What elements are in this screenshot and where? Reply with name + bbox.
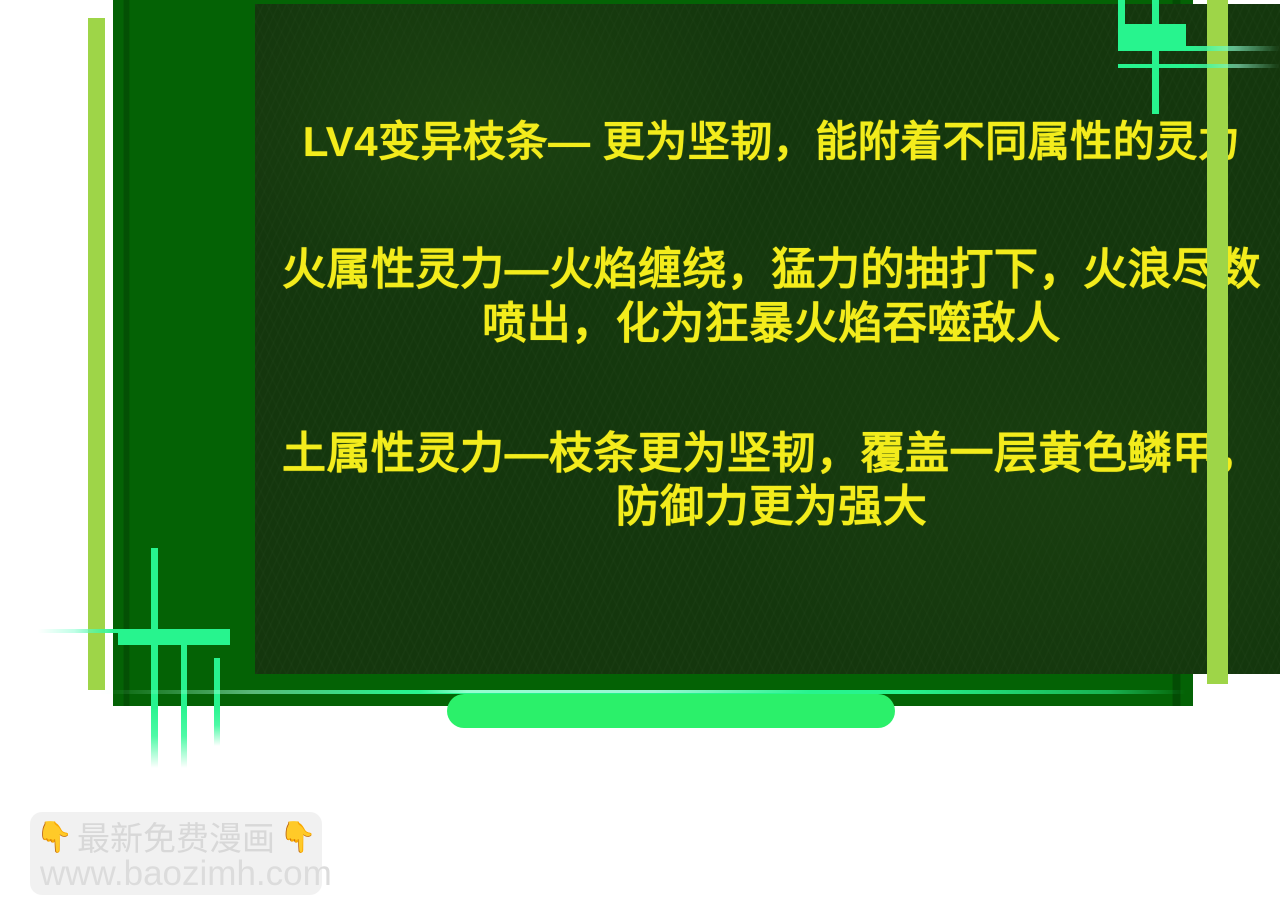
topright-vertical-line-a [1118, 0, 1125, 24]
pointing-down-hand-right-icon: 👇 [279, 823, 316, 853]
watermark-badge: 👇 最新免费漫画 👇 www.baozimh.com [30, 812, 322, 895]
skill-description-text-block: LV4变异枝条— 更为坚韧，能附着不同属性的灵力 火属性灵力—火焰缠绕，猛力的抽… [255, 4, 1280, 534]
topright-cyan-block [1118, 24, 1186, 46]
bottom-tail-line-2 [181, 706, 187, 768]
skill-line-1: LV4变异枝条— 更为坚韧，能附着不同属性的灵力 [255, 116, 1280, 167]
bottomleft-vertical-line-2 [181, 629, 187, 706]
skill-line-2-fire: 火属性灵力—火焰缠绕，猛力的抽打下，火浪尽数喷出，化为狂暴火焰吞噬敌人 [255, 243, 1280, 350]
bottomleft-vertical-line-1 [151, 548, 158, 706]
bottom-capsule-shape [447, 694, 895, 728]
left-green-accent-bar [88, 18, 105, 690]
panel-inner-background: LV4变异枝条— 更为坚韧，能附着不同属性的灵力 火属性灵力—火焰缠绕，猛力的抽… [255, 4, 1280, 674]
bottom-tail-line-1 [151, 706, 158, 768]
bottomleft-cyan-block [118, 629, 230, 645]
topright-vertical-line-b [1152, 0, 1159, 114]
pointing-down-hand-left-icon: 👇 [36, 823, 73, 853]
watermark-url: www.baozimh.com [40, 856, 312, 891]
text-spacer-2 [255, 351, 1280, 427]
bottomleft-vertical-line-3 [214, 658, 220, 706]
skill-line-3-earth: 土属性灵力—枝条更为坚韧，覆盖一层黄色鳞甲，防御力更为强大 [255, 427, 1280, 534]
right-green-accent-bar [1207, 0, 1228, 684]
bottom-tail-line-3 [214, 706, 220, 746]
comic-panel-stage: LV4变异枝条— 更为坚韧，能附着不同属性的灵力 火属性灵力—火焰缠绕，猛力的抽… [0, 0, 1280, 921]
text-spacer-1 [255, 167, 1280, 243]
topright-horizontal-line-b [1118, 64, 1280, 68]
capsule-highlight-line [420, 690, 810, 693]
panel-frame: LV4变异枝条— 更为坚韧，能附着不同属性的灵力 火属性灵力—火焰缠绕，猛力的抽… [113, 0, 1193, 706]
topright-horizontal-line-a [1118, 46, 1280, 51]
watermark-chinese-text: 最新免费漫画 [77, 822, 275, 855]
watermark-row-top: 👇 最新免费漫画 👇 [40, 818, 312, 858]
